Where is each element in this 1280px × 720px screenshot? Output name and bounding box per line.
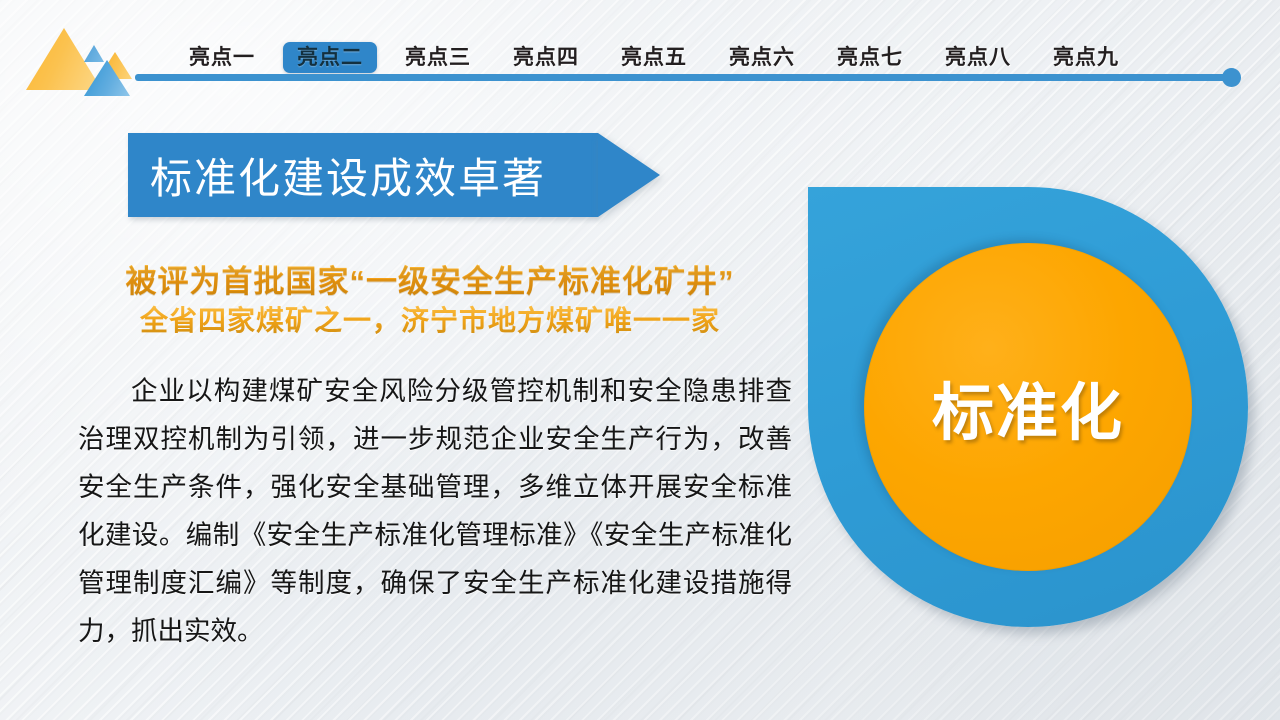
standardization-teardrop-graphic: 标准化 xyxy=(808,187,1248,627)
nav-underline-bar xyxy=(135,74,1232,81)
nav-item-1[interactable]: 亮点一 xyxy=(175,42,269,73)
section-nav: 亮点一 亮点二 亮点三 亮点四 亮点五 亮点六 亮点七 亮点八 亮点九 xyxy=(175,42,1147,73)
nav-item-4[interactable]: 亮点四 xyxy=(499,42,593,73)
logo-small-blue-triangle-icon xyxy=(84,45,104,62)
nav-underline-end-dot-icon xyxy=(1222,68,1241,87)
section-title-text: 标准化建设成效卓著 xyxy=(150,145,546,206)
nav-item-3[interactable]: 亮点三 xyxy=(391,42,485,73)
highlight-subtitle-line-1: 被评为首批国家“一级安全生产标准化矿井” xyxy=(60,262,800,302)
mountain-triangles-logo xyxy=(22,22,134,94)
nav-item-8[interactable]: 亮点八 xyxy=(931,42,1025,73)
section-title-banner-arrow-icon xyxy=(598,133,660,217)
slide-canvas: 亮点一 亮点二 亮点三 亮点四 亮点五 亮点六 亮点七 亮点八 亮点九 标准化建… xyxy=(0,0,1280,720)
nav-item-6[interactable]: 亮点六 xyxy=(715,42,809,73)
teardrop-label: 标准化 xyxy=(932,362,1124,452)
nav-item-9[interactable]: 亮点九 xyxy=(1039,42,1133,73)
nav-item-5[interactable]: 亮点五 xyxy=(607,42,701,73)
nav-item-2[interactable]: 亮点二 xyxy=(283,42,377,73)
slide-header: 亮点一 亮点二 亮点三 亮点四 亮点五 亮点六 亮点七 亮点八 亮点九 xyxy=(0,0,1280,106)
teardrop-orange-circle: 标准化 xyxy=(864,243,1192,571)
section-title-banner: 标准化建设成效卓著 xyxy=(128,133,598,217)
highlight-subtitle-line-2: 全省四家煤矿之一，济宁市地方煤矿唯一一家 xyxy=(60,302,800,340)
highlight-subtitle: 被评为首批国家“一级安全生产标准化矿井” 全省四家煤矿之一，济宁市地方煤矿唯一一… xyxy=(60,262,800,339)
nav-item-7[interactable]: 亮点七 xyxy=(823,42,917,73)
body-paragraph: 企业以构建煤矿安全风险分级管控机制和安全隐患排查治理双控机制为引领，进一步规范企… xyxy=(78,368,792,656)
